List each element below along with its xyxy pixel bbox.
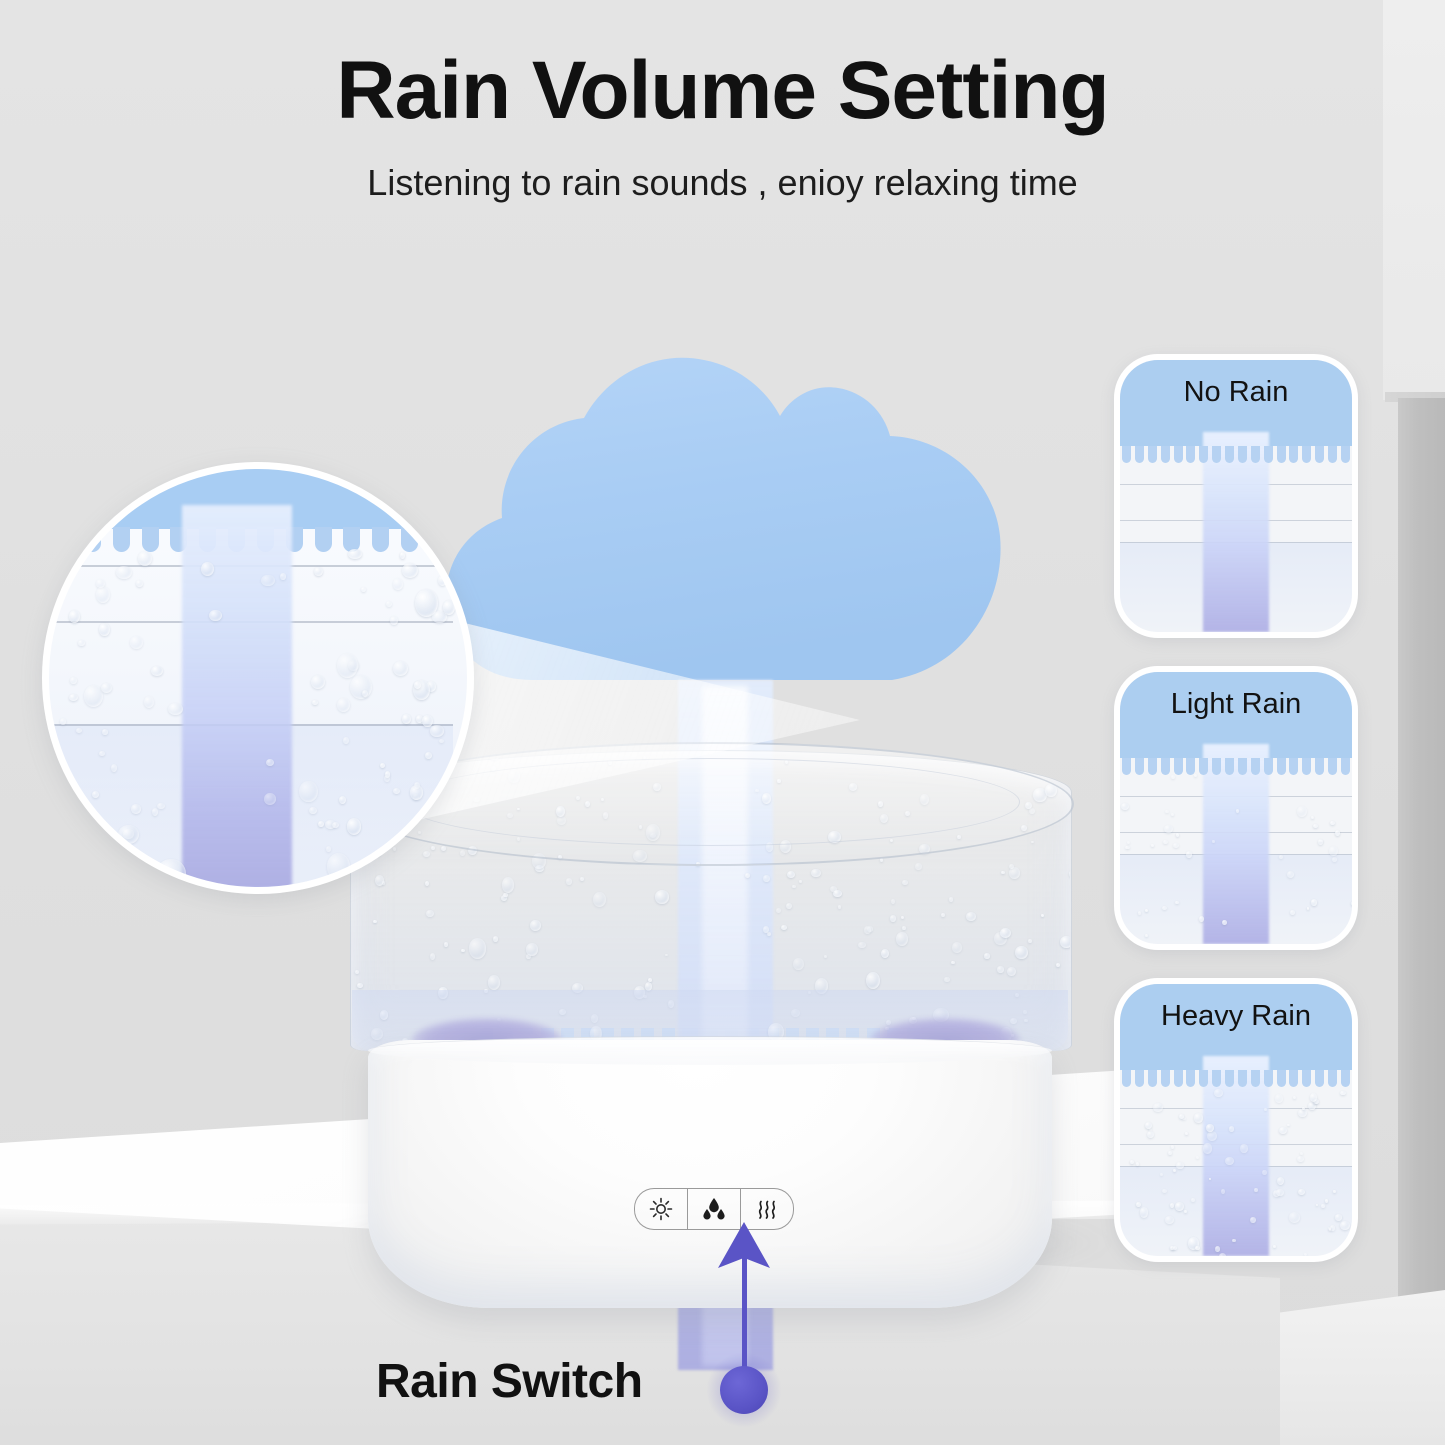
- mist-waves-icon: [753, 1196, 781, 1222]
- card-label: No Rain: [1120, 376, 1352, 409]
- page-title: Rain Volume Setting: [0, 48, 1445, 134]
- detail-zoom-circle: [42, 462, 474, 894]
- card-droplets-layer: [1120, 460, 1352, 632]
- magnifier-droplets-layer: [49, 549, 453, 889]
- card-droplets-layer: [1120, 1084, 1352, 1256]
- mode-card-heavy-rain[interactable]: Heavy Rain: [1114, 978, 1358, 1262]
- mode-card-light-rain[interactable]: Light Rain: [1114, 666, 1358, 950]
- rain-mode-button[interactable]: [687, 1188, 741, 1230]
- device-base: [368, 1040, 1052, 1308]
- control-panel: [634, 1188, 794, 1228]
- infographic-canvas: Rain Volume Setting Listening to rain so…: [0, 0, 1445, 1445]
- water-drops-icon: [700, 1196, 728, 1222]
- rain-switch-label: Rain Switch: [376, 1354, 643, 1409]
- page-subtitle: Listening to rain sounds , enioy relaxin…: [0, 162, 1445, 204]
- background-pillar: [1398, 398, 1445, 1300]
- mode-card-no-rain[interactable]: No Rain: [1114, 354, 1358, 638]
- card-label: Light Rain: [1120, 688, 1352, 721]
- sun-icon: [648, 1196, 674, 1222]
- callout-dot: [720, 1366, 768, 1414]
- card-label: Heavy Rain: [1120, 1000, 1352, 1033]
- device-base-seam: [368, 1036, 1052, 1065]
- light-button[interactable]: [634, 1188, 687, 1230]
- mist-button[interactable]: [741, 1188, 794, 1230]
- card-droplets-layer: [1120, 772, 1352, 944]
